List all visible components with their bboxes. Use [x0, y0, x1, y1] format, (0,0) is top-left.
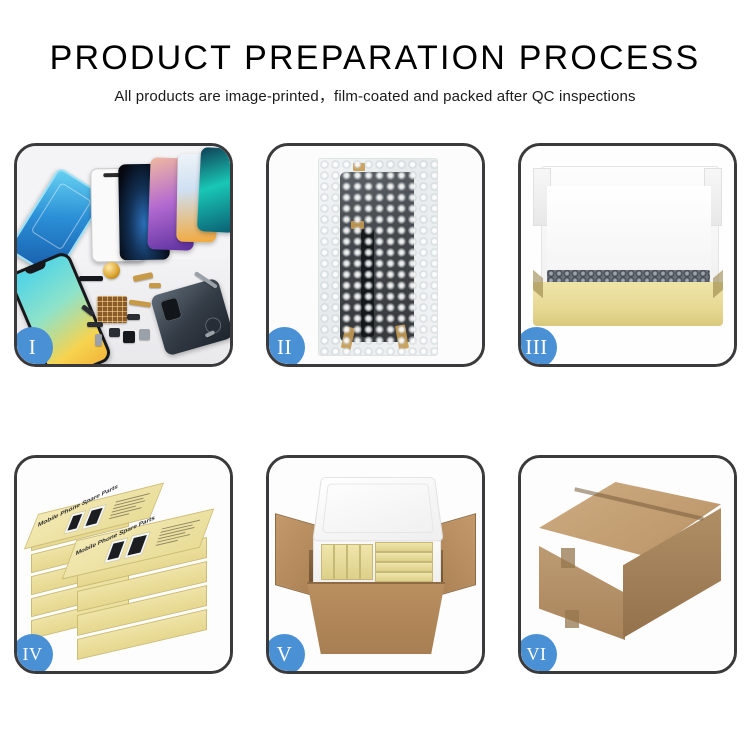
box-spec-lines-b: [155, 520, 200, 548]
inner-yellow-box-5: [375, 542, 433, 552]
process-steps-grid: I II: [14, 143, 737, 674]
step-badge-6: VI: [521, 634, 557, 671]
step-5-image: V: [269, 458, 482, 671]
box-window-right-b: [123, 531, 151, 559]
bubble-texture-overlay: [319, 159, 437, 355]
part-sim-tray: [95, 334, 102, 346]
step-1-image: I: [17, 146, 230, 364]
inner-yellow-box-2: [334, 544, 347, 580]
process-step-panel-5: V: [266, 455, 485, 674]
inner-yellow-box-1: [321, 544, 334, 580]
yellow-box-tray: [533, 282, 723, 326]
step-4-image: Mobile Phone Spare Parts: [17, 458, 230, 671]
retail-box-stack: Mobile Phone Spare Parts: [25, 476, 225, 656]
inner-yellow-box-3: [347, 544, 360, 580]
tape-strip-upper: [561, 548, 575, 568]
step-6-image: VI: [521, 458, 734, 671]
page-title: PRODUCT PREPARATION PROCESS: [0, 38, 750, 78]
part-vibrator: [123, 331, 135, 343]
product-preparation-process-page: PRODUCT PREPARATION PROCESS All products…: [0, 0, 750, 750]
box-spec-lines-a: [108, 493, 150, 521]
step-badge-2: II: [269, 327, 305, 364]
tape-strip-lower: [565, 610, 579, 628]
yellow-boxes-inside-foam: [321, 540, 433, 580]
box-window-right-a: [81, 504, 107, 530]
inner-yellow-box-4: [360, 544, 373, 580]
page-subtitle: All products are image-printed，film-coat…: [0, 87, 750, 106]
part-flex-cable-b: [149, 283, 161, 288]
part-shield-can: [139, 329, 150, 340]
speaker-component: [103, 262, 120, 279]
process-step-panel-1: I: [14, 143, 233, 367]
part-earpiece-mesh: [79, 276, 103, 281]
process-step-panel-2: II: [266, 143, 485, 367]
step-2-image: II: [269, 146, 482, 364]
part-connector-c: [127, 314, 140, 320]
inner-yellow-box-7: [375, 562, 433, 572]
inner-yellow-box-8: [375, 572, 433, 582]
process-step-panel-4: Mobile Phone Spare Parts: [14, 455, 233, 674]
foam-box-lid: [312, 477, 443, 541]
part-connector-b: [87, 322, 103, 327]
part-camera-module: [109, 328, 120, 337]
step-badge-5: V: [269, 634, 305, 671]
carton-front-panel: [307, 582, 445, 654]
inner-yellow-box-6: [375, 552, 433, 562]
process-step-panel-6: VI: [518, 455, 737, 674]
step-badge-3: III: [521, 327, 557, 364]
logic-board-component: [97, 296, 127, 323]
process-step-panel-3: III: [518, 143, 737, 367]
step-3-image: III: [521, 146, 734, 364]
phone-teal-display: [197, 147, 230, 233]
bubble-wrap-bag: [318, 158, 438, 356]
page-header: PRODUCT PREPARATION PROCESS All products…: [0, 38, 750, 106]
